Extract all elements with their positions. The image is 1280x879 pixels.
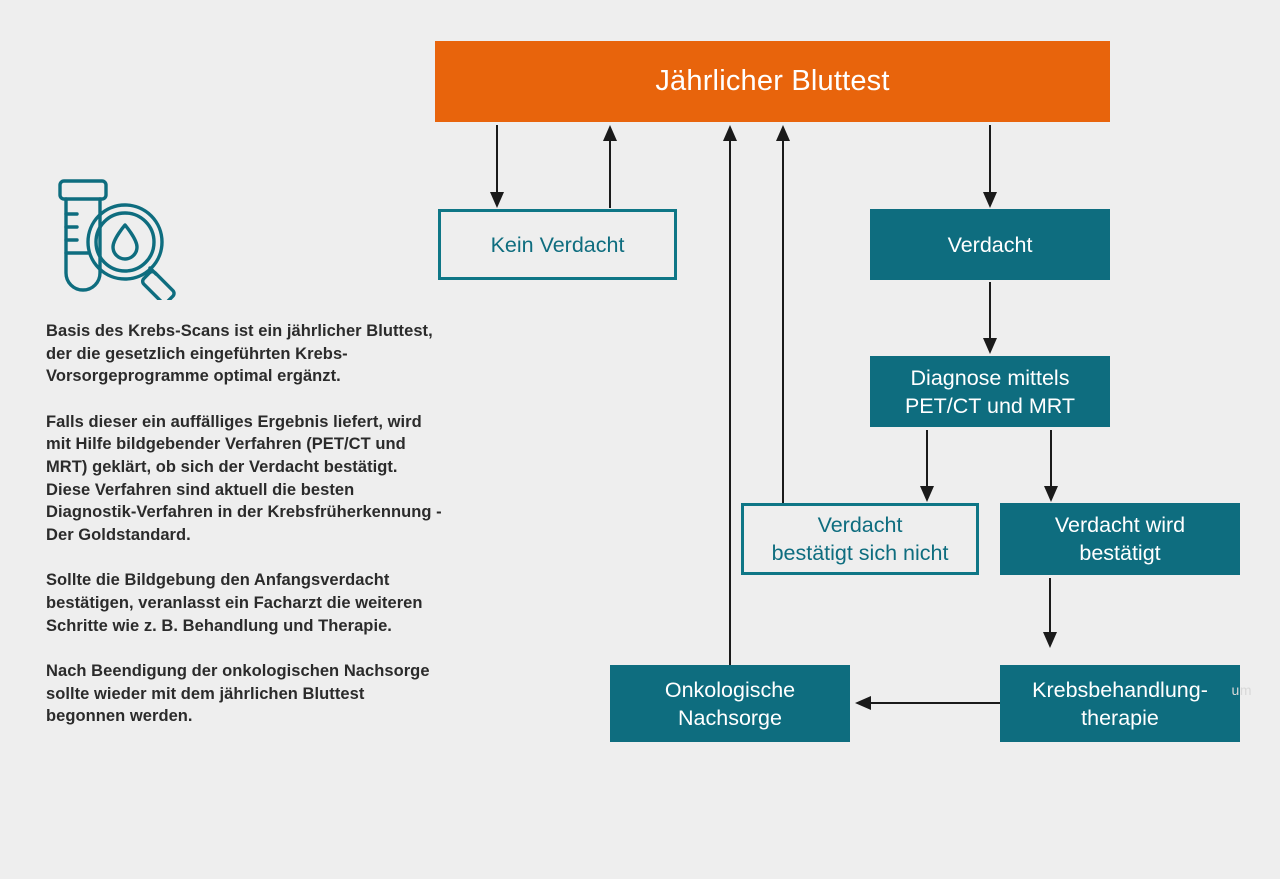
- node-cancer-therapy-label: Krebsbehandlung- therapie: [1000, 676, 1240, 732]
- connector-suspicion-to-diagnosis: [989, 282, 991, 339]
- arrowhead-diagnosis-to-confirmed: [1044, 486, 1058, 502]
- connector-diagnosis-to-not-confirmed: [926, 430, 928, 487]
- node-diagnosis-label: Diagnose mittels PET/CT und MRT: [870, 364, 1110, 420]
- connector-therapy-to-aftercare: [871, 702, 1000, 704]
- arrowhead-confirmed-to-therapy: [1043, 632, 1057, 648]
- test-tube-magnifier-blooddrop-icon: [48, 170, 178, 300]
- node-suspicion-confirmed[interactable]: Verdacht wird bestätigt: [1000, 503, 1240, 575]
- node-annual-blood-test[interactable]: Jährlicher Bluttest: [435, 41, 1110, 122]
- description-text: Basis des Krebs-Scans ist ein jährlicher…: [46, 320, 446, 728]
- connector-test-to-suspicion: [989, 125, 991, 193]
- node-no-suspicion[interactable]: Kein Verdacht: [438, 209, 677, 280]
- description-paragraph-1: Basis des Krebs-Scans ist ein jährlicher…: [46, 320, 446, 388]
- node-suspicion[interactable]: Verdacht: [870, 209, 1110, 280]
- description-paragraph-3: Sollte die Bildgebung den Anfangsverdach…: [46, 569, 446, 637]
- arrowhead-aftercare-to-test: [723, 125, 737, 141]
- connector-diagnosis-to-confirmed: [1050, 430, 1052, 487]
- node-oncology-aftercare-label: Onkologische Nachsorge: [610, 676, 850, 732]
- connector-test-to-no-suspicion: [496, 125, 498, 193]
- arrowhead-therapy-to-aftercare: [855, 696, 871, 710]
- left-info-panel: Basis des Krebs-Scans ist ein jährlicher…: [46, 170, 446, 728]
- connector-not-confirmed-to-test: [782, 140, 784, 503]
- node-oncology-aftercare[interactable]: Onkologische Nachsorge: [610, 665, 850, 742]
- connector-no-suspicion-to-test: [609, 140, 611, 208]
- node-suspicion-confirmed-label: Verdacht wird bestätigt: [1000, 511, 1240, 567]
- node-diagnosis[interactable]: Diagnose mittels PET/CT und MRT: [870, 356, 1110, 427]
- connector-confirmed-to-therapy: [1049, 578, 1051, 633]
- watermark-text: um: [1232, 682, 1252, 698]
- node-suspicion-not-confirmed[interactable]: Verdacht bestätigt sich nicht: [741, 503, 979, 575]
- node-cancer-therapy[interactable]: Krebsbehandlung- therapie: [1000, 665, 1240, 742]
- arrowhead-test-to-suspicion: [983, 192, 997, 208]
- node-suspicion-not-confirmed-label: Verdacht bestätigt sich nicht: [744, 511, 976, 567]
- description-paragraph-4: Nach Beendigung der onkologischen Nachso…: [46, 660, 446, 728]
- arrowhead-not-confirmed-to-test: [776, 125, 790, 141]
- description-paragraph-2: Falls dieser ein auffälliges Ergebnis li…: [46, 411, 446, 547]
- arrowhead-test-to-no-suspicion: [490, 192, 504, 208]
- diagram-canvas: Basis des Krebs-Scans ist ein jährlicher…: [0, 0, 1280, 879]
- node-annual-blood-test-label: Jährlicher Bluttest: [435, 65, 1110, 98]
- connector-aftercare-to-test: [729, 140, 731, 665]
- arrowhead-suspicion-to-diagnosis: [983, 338, 997, 354]
- node-suspicion-label: Verdacht: [870, 231, 1110, 259]
- node-no-suspicion-label: Kein Verdacht: [441, 231, 674, 259]
- arrowhead-diagnosis-to-not-confirmed: [920, 486, 934, 502]
- arrowhead-no-suspicion-to-test: [603, 125, 617, 141]
